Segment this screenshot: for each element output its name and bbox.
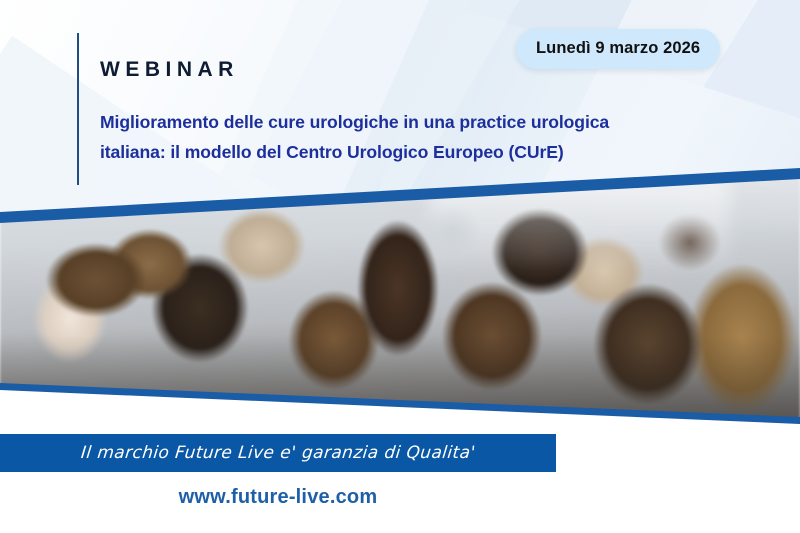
page-title: Miglioramento delle cure urologiche in u… [100, 107, 720, 167]
footer-section: Il marchio Future Live e' garanzia di Qu… [0, 424, 800, 533]
webinar-poster: WEBINAR Miglioramento delle cure urologi… [0, 0, 800, 533]
page-title-line-2: italiana: il modello del Centro Urologic… [100, 137, 720, 167]
tagline-text: Il marchio Future Live e' garanzia di Qu… [80, 443, 477, 463]
website-url[interactable]: www.future-live.com [0, 486, 556, 509]
date-badge: Lunedì 9 marzo 2026 [516, 29, 720, 69]
eyebrow-label: WEBINAR [100, 58, 239, 82]
title-accent-rule [77, 33, 79, 185]
page-title-line-1: Miglioramento delle cure urologiche in u… [100, 107, 720, 137]
tagline-bar: Il marchio Future Live e' garanzia di Qu… [0, 434, 556, 472]
